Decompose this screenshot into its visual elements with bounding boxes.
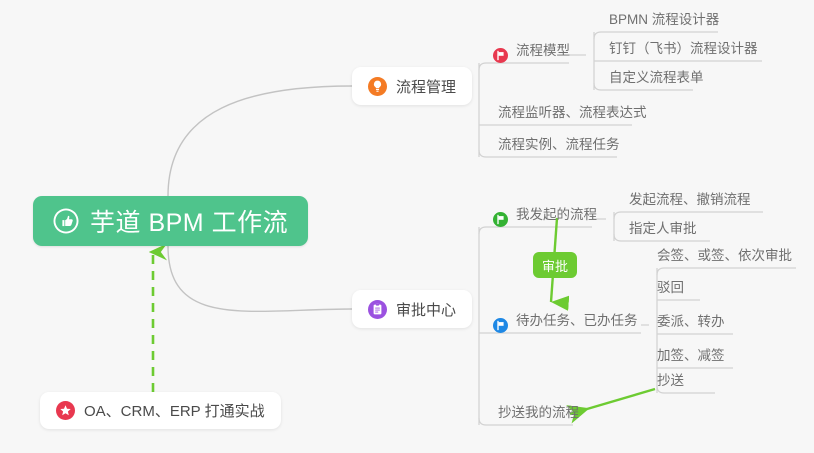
node-label: 抄送我的流程 xyxy=(498,401,579,421)
node-listener-expression[interactable]: 流程监听器、流程表达式 xyxy=(489,98,655,125)
node-label: 审批中心 xyxy=(396,299,456,320)
node-label: 抄送 xyxy=(657,369,684,389)
node-label: BPMN 流程设计器 xyxy=(609,8,719,28)
flag-icon xyxy=(493,212,508,227)
node-cc-to-me[interactable]: 抄送我的流程 xyxy=(489,398,587,425)
node-label: 流程管理 xyxy=(396,76,456,97)
lightbulb-icon xyxy=(368,77,387,96)
node-process-model[interactable]: 流程模型 xyxy=(489,36,578,63)
node-process-management[interactable]: 流程管理 xyxy=(352,67,472,105)
mindmap-canvas: 待办任务 --> 抄送我的流程 --> 芋道 BPM 工作流 xyxy=(0,0,814,453)
node-label: 我发起的流程 xyxy=(516,203,597,223)
node-label: 钉钉（飞书）流程设计器 xyxy=(609,37,758,57)
node-label: 流程模型 xyxy=(516,39,570,59)
node-label: 自定义流程表单 xyxy=(609,66,704,86)
node-integration-note[interactable]: OA、CRM、ERP 打通实战 xyxy=(40,392,281,429)
node-approval-center[interactable]: 审批中心 xyxy=(352,290,472,328)
node-delegate-transfer[interactable]: 委派、转办 xyxy=(648,307,733,334)
node-label: 驳回 xyxy=(657,276,684,296)
node-label: 委派、转办 xyxy=(657,310,725,330)
clipboard-icon xyxy=(368,300,387,319)
edge-pm-to-process-model xyxy=(479,63,569,70)
node-todo-done[interactable]: 待办任务、已办任务 xyxy=(489,306,646,333)
node-bpmn-designer[interactable]: BPMN 流程设计器 xyxy=(600,5,727,32)
node-start-cancel[interactable]: 发起流程、撤销流程 xyxy=(620,185,759,212)
callout-label: 审批 xyxy=(542,256,568,275)
node-add-remove-sign[interactable]: 加签、减签 xyxy=(648,341,733,368)
node-custom-process-form[interactable]: 自定义流程表单 xyxy=(600,63,712,90)
star-icon xyxy=(56,401,75,420)
callout-approval-chip[interactable]: 审批 xyxy=(533,252,577,278)
edge-ac-to-my-initiated xyxy=(479,227,592,234)
node-label: 发起流程、撤销流程 xyxy=(629,188,751,208)
root-node[interactable]: 芋道 BPM 工作流 xyxy=(33,196,308,246)
node-label: 流程实例、流程任务 xyxy=(498,133,620,153)
node-dingtalk-feishu-designer[interactable]: 钉钉（飞书）流程设计器 xyxy=(600,34,766,61)
node-instance-task[interactable]: 流程实例、流程任务 xyxy=(489,130,628,157)
root-label: 芋道 BPM 工作流 xyxy=(90,203,288,239)
node-my-initiated[interactable]: 我发起的流程 xyxy=(489,200,605,227)
node-countersign[interactable]: 会签、或签、依次审批 xyxy=(648,241,800,268)
node-label: 待办任务、已办任务 xyxy=(516,309,638,329)
edge-root-to-approval-center xyxy=(168,246,352,311)
node-label: 加签、减签 xyxy=(657,344,725,364)
node-label: 流程监听器、流程表达式 xyxy=(498,101,647,121)
edge-root-to-process-management xyxy=(168,86,352,196)
node-assignee-approval[interactable]: 指定人审批 xyxy=(620,214,705,241)
node-label: 指定人审批 xyxy=(629,217,697,237)
node-label: 会签、或签、依次审批 xyxy=(657,244,792,264)
node-reject[interactable]: 驳回 xyxy=(648,273,692,300)
thumbs-up-icon xyxy=(53,208,79,234)
flag-icon xyxy=(493,318,508,333)
flag-icon xyxy=(493,48,508,63)
node-cc[interactable]: 抄送 xyxy=(648,366,692,393)
node-label: OA、CRM、ERP 打通实战 xyxy=(84,400,265,421)
